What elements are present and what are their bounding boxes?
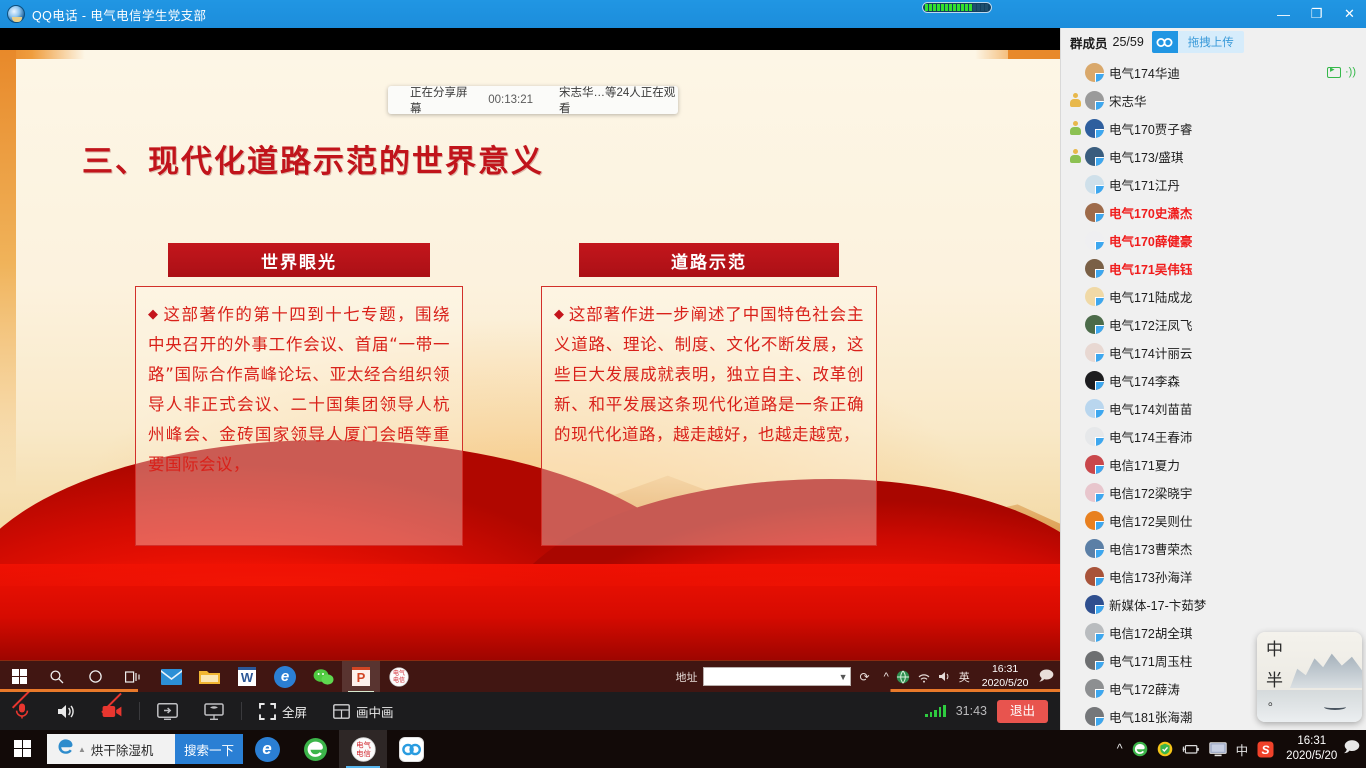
avatar (1085, 147, 1104, 166)
avatar (1085, 623, 1104, 642)
edge-icon: e (255, 737, 280, 762)
member-list-item[interactable]: 电信171夏力 (1061, 450, 1366, 478)
window-controls: — ❐ ✕ (1267, 0, 1366, 28)
inner-ime-indicator[interactable]: 英 (959, 669, 970, 685)
ink-mountain-decor (1290, 648, 1362, 688)
member-role-person-icon (1065, 90, 1085, 110)
address-label: 地址 (676, 669, 698, 685)
member-list-item[interactable]: 电气173/盛琪 (1061, 142, 1366, 170)
member-list-header: 群成员 25/59 拖拽上传 (1061, 28, 1366, 56)
member-name: 电信172胡全琪 (1109, 623, 1192, 642)
member-role-spacer (1065, 482, 1085, 502)
inner-time: 16:31 (982, 663, 1029, 676)
speaker-button[interactable] (44, 692, 89, 730)
avatar (1085, 511, 1104, 530)
member-role-spacer (1065, 342, 1085, 362)
member-role-spacer (1065, 286, 1085, 306)
member-list-item[interactable]: 电信172吴则仕 (1061, 506, 1366, 534)
restore-button[interactable]: ❐ (1300, 0, 1333, 28)
svg-text:电信: 电信 (356, 749, 371, 758)
member-name: 电气172薛涛 (1109, 679, 1180, 698)
member-list-item[interactable]: 电气174王春沛 (1061, 422, 1366, 450)
avatar (1085, 399, 1104, 418)
member-name: 电气170薛健豪 (1109, 231, 1192, 250)
taskbar-360-browser-app[interactable] (291, 730, 339, 768)
search-submit-button[interactable]: 搜索一下 (175, 734, 243, 764)
avatar (1085, 343, 1104, 362)
member-list-item[interactable]: 电气171江丹 (1061, 170, 1366, 198)
pip-text-2: 半 (1266, 666, 1283, 691)
windows-logo-icon (14, 740, 32, 758)
member-list-item[interactable]: 电气171陆成龙 (1061, 282, 1366, 310)
member-name: 电气174计丽云 (1109, 343, 1192, 362)
member-role-spacer (1065, 678, 1085, 698)
member-name: 电气170史潇杰 (1109, 203, 1192, 222)
network-globe-icon (896, 670, 910, 684)
call-control-bar: 全屏 画中画 31:43 退出 (0, 692, 1060, 730)
svg-text:P: P (357, 670, 366, 685)
mail-icon (161, 669, 182, 685)
pip-text-1: 中 (1266, 640, 1283, 661)
avatar (1085, 567, 1104, 586)
avatar (1085, 259, 1104, 278)
edge-icon: e (274, 666, 296, 688)
member-list-sidebar: 群成员 25/59 拖拽上传 电气174华迪·))宋志华电气170贾子睿电气17… (1060, 28, 1366, 730)
search-icon (49, 669, 65, 685)
avatar (1085, 287, 1104, 306)
wifi-icon (917, 671, 931, 683)
member-name: 电气174华迪 (1109, 63, 1180, 82)
member-role-spacer (1065, 706, 1085, 726)
member-role-spacer (1065, 650, 1085, 670)
avatar (1085, 651, 1104, 670)
member-list-item[interactable]: 电气174李森 (1061, 366, 1366, 394)
member-name: 电气174王春沛 (1109, 427, 1192, 446)
folder-icon (199, 668, 220, 685)
avatar (1085, 483, 1104, 502)
member-role-spacer (1065, 454, 1085, 474)
member-role-spacer (1065, 622, 1085, 642)
close-button[interactable]: ✕ (1333, 0, 1366, 28)
avatar (1085, 427, 1104, 446)
member-role-person-icon (1065, 146, 1085, 166)
task-view-icon (125, 670, 141, 684)
sogou-icon[interactable]: S (1257, 741, 1274, 758)
member-role-spacer (1065, 370, 1085, 390)
microphone-muted-icon (13, 702, 31, 720)
member-role-person-icon (1065, 118, 1085, 138)
windows-taskbar: ▲ 烘干除湿机 搜索一下 e 电气电信 ^ (0, 730, 1366, 768)
avatar (1085, 539, 1104, 558)
screen-share-status-bar: 正在分享屏幕 00:13:21 宋志华…等24人正在观看 (388, 86, 678, 114)
member-list-item[interactable]: 电气170史潇杰 (1061, 198, 1366, 226)
baidu-netdisk-icon[interactable] (1152, 31, 1178, 53)
system-tray: ^ 中 S (1117, 740, 1280, 759)
taskbar-app-buttons: e 电气电信 (243, 730, 435, 768)
qq-call-window: QQ电话 - 电气电信学生党支部 — ❐ ✕ 三、现代化道路示范的世界意义 世界… (0, 0, 1366, 768)
start-button[interactable] (0, 730, 46, 768)
inner-wechat-app[interactable] (304, 661, 342, 693)
inner-address-bar: 地址 ▼ ⟳ (676, 667, 872, 686)
person-icon (1070, 93, 1081, 107)
member-role-spacer (1065, 258, 1085, 278)
drag-upload-button[interactable]: 拖拽上传 (1178, 31, 1244, 53)
cortana-circle-icon (88, 669, 103, 684)
slide-column-right: 道路示范 ◆这部著作进一步阐述了中国特色社会主义道路、理论、制度、文化不断发展，… (541, 243, 877, 546)
fullscreen-label: 全屏 (282, 702, 307, 721)
windows-logo-icon (12, 669, 27, 684)
member-name: 电气171吴伟钰 (1109, 259, 1192, 278)
person-icon (1070, 121, 1081, 135)
chevron-up-icon: ▲ (78, 745, 86, 754)
member-list-item[interactable]: 新媒体-17-卞茹梦 (1061, 590, 1366, 618)
member-list-item[interactable]: 电气170贾子睿 (1061, 114, 1366, 142)
ink-boat-decor (1324, 704, 1346, 710)
taskbar-edge-app[interactable]: e (243, 730, 291, 768)
notification-center-icon[interactable]: 🗩 (1343, 737, 1366, 762)
member-status-icons: ·)) (1327, 66, 1366, 78)
bullet-icon-left: ◆ (148, 307, 159, 322)
member-role-spacer (1065, 174, 1085, 194)
party-badge-icon: 电气电信 (351, 737, 376, 762)
avatar (1085, 91, 1104, 110)
avatar (1085, 455, 1104, 474)
member-name: 电气174刘苗苗 (1109, 399, 1192, 418)
member-list-item[interactable]: 电信172梁晓宇 (1061, 478, 1366, 506)
slide-title: 三、现代化道路示范的世界意义 (82, 136, 544, 181)
notification-icon[interactable]: 🗩 (1038, 665, 1054, 689)
party-badge-icon: 电气电信 (389, 667, 409, 687)
member-list-item[interactable]: 宋志华 (1061, 86, 1366, 114)
qq-video-call-icon (7, 5, 25, 23)
green-browser-icon (303, 737, 328, 762)
picture-in-picture-icon (333, 704, 350, 719)
avatar (1085, 175, 1104, 194)
inner-powerpoint-app[interactable]: P (342, 661, 380, 693)
powerpoint-slide: 三、现代化道路示范的世界意义 世界眼光 ◆这部著作的第十四到十七专题，围绕中央召… (0, 50, 1060, 660)
avatar (1085, 203, 1104, 222)
member-name: 电气171陆成龙 (1109, 287, 1192, 306)
svg-text:电信: 电信 (393, 676, 405, 684)
control-divider-2 (241, 702, 242, 720)
member-name: 电气170贾子睿 (1109, 119, 1192, 138)
member-role-spacer (1065, 230, 1085, 250)
avatar (1085, 231, 1104, 250)
member-list-item[interactable]: 电气174刘苗苗 (1061, 394, 1366, 422)
avatar (1085, 119, 1104, 138)
column-body-text-left: 这部著作的第十四到十七专题，围绕中央召开的外事工作会议、首届“一带一路”国际合作… (148, 305, 450, 474)
share-duration: 00:13:21 (488, 94, 533, 106)
fullscreen-button[interactable]: 全屏 (246, 692, 320, 730)
signal-strength-icon (925, 705, 946, 717)
member-role-spacer (1065, 202, 1085, 222)
member-role-spacer (1065, 426, 1085, 446)
member-list[interactable]: 电气174华迪·))宋志华电气170贾子睿电气173/盛琪电气171江丹电气17… (1061, 56, 1366, 728)
column-body-text-right: 这部著作进一步阐述了中国特色社会主义道路、理论、制度、文化不断发展，这些巨大发展… (554, 305, 864, 444)
up-chevron-icon[interactable]: ^ (884, 671, 889, 683)
column-heading-left: 世界眼光 (168, 243, 430, 277)
shared-screen-stage[interactable]: 三、现代化道路示范的世界意义 世界眼光 ◆这部著作的第十四到十七专题，围绕中央召… (0, 28, 1060, 692)
avatar (1085, 63, 1104, 82)
column-heading-right: 道路示范 (579, 243, 839, 277)
speaker-icon (57, 703, 76, 720)
member-list-item[interactable]: 电气170薛健豪 (1061, 226, 1366, 254)
share-viewers: 宋志华…等24人正在观看 (559, 84, 678, 116)
member-name: 新媒体-17-卞茹梦 (1109, 595, 1206, 614)
self-view-thumbnail[interactable]: 中 半 。 (1257, 632, 1362, 722)
shared-windows-taskbar: W e P 电气电信 地址 ▼ ⟳ (0, 660, 1060, 692)
member-role-spacer (1065, 62, 1085, 82)
taskbar-netdisk-app[interactable] (387, 730, 435, 768)
inner-search-button[interactable] (38, 661, 76, 693)
taskbar-clock[interactable]: 16:31 2020/5/20 (1286, 734, 1337, 764)
window-title: QQ电话 - 电气电信学生党支部 (32, 5, 206, 24)
member-name: 电气173/盛琪 (1109, 147, 1183, 166)
volume-icon (938, 670, 952, 683)
taskbar-time: 16:31 (1286, 734, 1337, 749)
ie-browser-icon (56, 737, 75, 761)
inner-date: 2020/5/20 (982, 677, 1029, 690)
avatar (1085, 371, 1104, 390)
svg-text:电气: 电气 (393, 669, 405, 677)
call-duration: 31:43 (956, 704, 987, 718)
control-divider-1 (139, 702, 140, 720)
member-list-item[interactable]: 电信173曹荣杰 (1061, 534, 1366, 562)
camera-button[interactable] (89, 692, 135, 730)
svg-text:W: W (241, 670, 254, 685)
address-input[interactable]: ▼ (703, 667, 851, 686)
screen-share-icon (1327, 67, 1341, 78)
avatar (1085, 707, 1104, 726)
inner-mail-app[interactable] (152, 661, 190, 693)
member-name: 电气172汪凤飞 (1109, 315, 1192, 334)
svg-text:S: S (1262, 743, 1270, 757)
column-body-box-left: ◆这部著作的第十四到十七专题，围绕中央召开的外事工作会议、首届“一带一路”国际合… (135, 286, 463, 546)
share-screen-button[interactable] (144, 692, 191, 730)
inner-word-app[interactable]: W (228, 661, 266, 693)
inner-party-app[interactable]: 电气电信 (380, 661, 418, 693)
member-role-spacer (1065, 510, 1085, 530)
taskbar-search-box[interactable]: ▲ 烘干除湿机 搜索一下 (47, 734, 243, 764)
inner-clock[interactable]: 16:31 2020/5/20 (982, 663, 1029, 689)
fullscreen-icon (259, 703, 276, 720)
member-list-item[interactable]: 电气171吴伟钰 (1061, 254, 1366, 282)
inner-task-view-button[interactable] (114, 661, 152, 693)
battery-icon[interactable] (1182, 743, 1200, 756)
camera-off-icon (102, 704, 122, 719)
green-browser-icon[interactable] (1132, 741, 1148, 757)
avatar (1085, 595, 1104, 614)
member-name: 电气174李森 (1109, 371, 1180, 390)
member-list-item[interactable]: 电气174计丽云 (1061, 338, 1366, 366)
member-role-spacer (1065, 314, 1085, 334)
up-chevron-icon[interactable]: ^ (1117, 742, 1123, 756)
minimize-button[interactable]: — (1267, 0, 1300, 28)
avatar (1085, 315, 1104, 334)
baidu-netdisk-icon (399, 737, 424, 762)
call-status-group: 31:43 退出 (925, 700, 1060, 723)
member-list-item[interactable]: 电气172汪凤飞 (1061, 310, 1366, 338)
monitor-icon[interactable] (1209, 742, 1227, 757)
pip-text-3: 。 (1268, 692, 1280, 709)
inner-edge-app[interactable]: e (266, 661, 304, 693)
search-query-text: 烘干除湿机 (91, 740, 154, 759)
whiteboard-button[interactable] (191, 692, 237, 730)
speaking-icon: ·)) (1345, 66, 1356, 78)
column-body-box-right: ◆这部著作进一步阐述了中国特色社会主义道路、理论、制度、文化不断发展，这些巨大发… (541, 286, 877, 546)
word-icon: W (238, 667, 256, 686)
avatar (1085, 679, 1104, 698)
member-name: 电信173孙海洋 (1109, 567, 1192, 586)
inner-system-tray: ^ 英 (884, 669, 970, 685)
member-role-spacer (1065, 594, 1085, 614)
taskbar-date: 2020/5/20 (1286, 749, 1337, 764)
inner-taskbar-accent (0, 689, 1060, 692)
member-role-spacer (1065, 538, 1085, 558)
microphone-button[interactable] (0, 692, 44, 730)
share-status-label: 正在分享屏幕 (410, 84, 474, 116)
taskbar-party-app[interactable]: 电气电信 (339, 730, 387, 768)
powerpoint-icon: P (352, 667, 370, 686)
member-role-spacer (1065, 566, 1085, 586)
pip-button[interactable]: 画中画 (320, 692, 407, 730)
bullet-icon-right: ◆ (554, 307, 565, 322)
member-count: 25/59 (1113, 35, 1144, 49)
wechat-icon (313, 668, 334, 686)
member-list-item[interactable]: 电气174华迪·)) (1061, 58, 1366, 86)
red-silk-base (0, 564, 1060, 660)
refresh-icon[interactable]: ⟳ (860, 670, 870, 684)
member-name: 电信173曹荣杰 (1109, 539, 1192, 558)
member-list-title: 群成员 (1070, 33, 1108, 52)
member-list-item[interactable]: 电信173孙海洋 (1061, 562, 1366, 590)
member-name: 电气171江丹 (1109, 175, 1180, 194)
member-name: 宋志华 (1109, 91, 1147, 110)
member-name: 电气171周玉柱 (1109, 651, 1192, 670)
shield-icon[interactable] (1157, 741, 1173, 757)
window-title-bar: QQ电话 - 电气电信学生党支部 — ❐ ✕ (0, 0, 1366, 28)
exit-call-button[interactable]: 退出 (997, 700, 1048, 723)
slide-top-border (0, 50, 1060, 59)
slide-column-left: 世界眼光 ◆这部著作的第十四到十七专题，围绕中央召开的外事工作会议、首届“一带一… (135, 243, 463, 546)
ime-indicator[interactable]: 中 (1236, 740, 1249, 759)
slide-top-right-accent (1008, 50, 1060, 59)
pip-label: 画中画 (356, 702, 394, 721)
member-name: 电信172吴则仕 (1109, 511, 1192, 530)
share-screen-icon (157, 703, 178, 720)
member-name: 电信172梁晓宇 (1109, 483, 1192, 502)
member-name: 电信171夏力 (1109, 455, 1180, 474)
member-role-spacer (1065, 398, 1085, 418)
person-icon (1070, 149, 1081, 163)
inner-start-button[interactable] (0, 661, 38, 693)
chevron-down-icon[interactable]: ▼ (839, 672, 848, 682)
inner-cortana-button[interactable] (76, 661, 114, 693)
whiteboard-icon (204, 703, 224, 720)
inner-file-explorer-app[interactable] (190, 661, 228, 693)
audio-level-meter (922, 2, 992, 13)
member-name: 电气181张海潮 (1109, 707, 1192, 726)
